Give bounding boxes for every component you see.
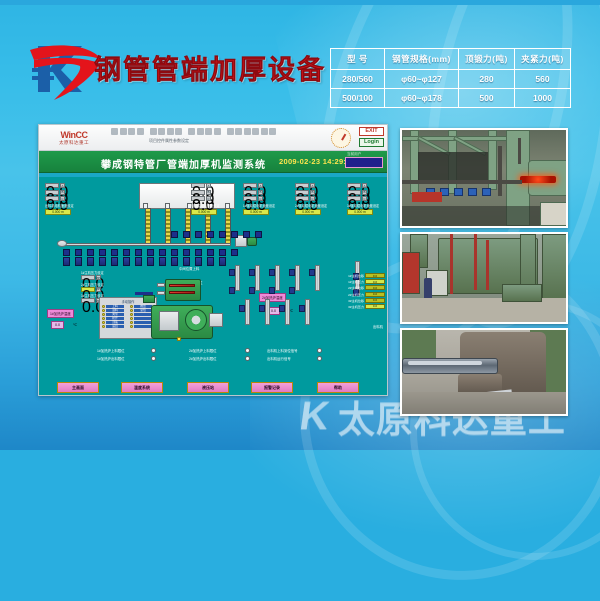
toolbar-icon-undo[interactable] — [175, 128, 182, 135]
login-button[interactable]: Login — [359, 138, 384, 147]
photo1-hydraulic-line — [498, 146, 502, 196]
conveyor-roller — [219, 249, 226, 256]
status-lamp-icon — [245, 356, 250, 361]
control-label — [134, 325, 152, 328]
photo3-floor — [402, 392, 568, 416]
value-tag: C — [60, 196, 65, 201]
col-header-clamp-force: 夹紧力(吨) — [515, 49, 571, 70]
lift-cylinder — [315, 265, 320, 291]
status-led-icon — [130, 317, 133, 320]
value-tag: B — [206, 190, 211, 195]
spec-table: 型 号 钢管规格(mm) 顶锻力(吨) 夹紧力(吨) 280/560 φ60~φ… — [330, 48, 571, 108]
cell-clamp-force: 560 — [515, 70, 571, 89]
toolbar-icon-new[interactable] — [111, 128, 118, 135]
wincc-logo: WinCC 太原科达重工 — [43, 127, 105, 149]
photo1-roller — [454, 188, 463, 196]
right-value-row: 3#主机压力 0.0 — [348, 304, 385, 309]
value-tag: C — [258, 196, 263, 201]
page-title: 钢管管端加厚设备 — [94, 48, 326, 87]
roller-stand — [171, 257, 178, 266]
toolbar-icon-print[interactable] — [137, 128, 144, 135]
conveyor-roller — [87, 249, 94, 256]
value-row: 0.0 C — [243, 196, 277, 201]
lift-cylinder — [305, 299, 310, 325]
value-box[interactable]: 0.0 — [45, 190, 59, 195]
value-box[interactable]: 0.0 — [347, 190, 361, 195]
toolbar-icon-zoom[interactable] — [188, 128, 195, 135]
value-tag: A — [258, 183, 263, 188]
value-row: 0.0 B — [347, 190, 381, 195]
lift-cylinder — [265, 299, 270, 325]
value-tag: A — [206, 183, 211, 188]
toolbar-icon-open[interactable] — [120, 128, 127, 135]
hmi-toolbar-caption: 项目控件属性参数设定 — [149, 138, 189, 144]
value-row: 0.0 A — [191, 183, 225, 188]
photo2-worker — [424, 278, 432, 298]
cell-model: 500/100 — [331, 89, 385, 108]
furnace-temp-label: 1#加热炉温度 — [47, 309, 74, 318]
lamp-label-mid-1: 2#加热炉上料限位 — [189, 349, 217, 353]
right-value-label: 2#主机压力 — [348, 292, 364, 297]
toolbar-separator — [222, 128, 225, 135]
hmi-screenshot: WinCC 太原科达重工 项目控件属性参数设定 — [38, 124, 388, 396]
photo2-red-pipe — [486, 240, 489, 290]
right-value-row: 2#主机位移 0.0 — [348, 285, 385, 290]
status-led-icon — [102, 305, 105, 308]
value-tag: A — [60, 183, 65, 188]
valve-symbol — [289, 269, 295, 276]
status-led-icon — [130, 313, 133, 316]
value-tag: C — [362, 196, 367, 201]
roller-stand — [183, 257, 190, 266]
toolbar-icon-save[interactable] — [128, 128, 135, 135]
value-box[interactable]: 0.0 — [243, 190, 257, 195]
col-header-upset-force: 顶锻力(吨) — [459, 49, 515, 70]
roller-stand — [111, 257, 118, 266]
upper-roller — [207, 231, 214, 238]
right-value-row: 2#主机压力 0.0 — [348, 292, 385, 297]
control-label — [134, 321, 152, 324]
status-led-icon — [102, 309, 105, 312]
right-value-label: 3#主机压力 — [348, 304, 364, 309]
col-header-model: 型 号 — [331, 49, 385, 70]
value-group-drive-motor: 0.0 A 0.0 B 0.0 C 驱动辊电机速度设定 0.000 m — [191, 183, 225, 215]
value-tag: B — [310, 190, 315, 195]
status-lamp-icon — [317, 356, 322, 361]
photo2-canvas — [402, 234, 566, 322]
toolbar-icon-cut[interactable] — [150, 128, 157, 135]
pressure-row: 0.0 MPa — [81, 275, 104, 280]
page-header: 钢管管端加厚设备 — [16, 34, 336, 106]
valve-symbol — [249, 269, 255, 276]
value-box[interactable]: 0.0 — [45, 183, 59, 188]
value-group-caption: 1#驱动辊电机速度设定 — [243, 203, 277, 208]
value-group-drive-motor-2: 0.0 A 0.0 B 0.0 C 2#驱动辊电机速度设定 0.000 m — [295, 183, 329, 215]
toolbar-icon-paste[interactable] — [167, 128, 174, 135]
roller-stand — [87, 257, 94, 266]
value-row: 0.0 C — [347, 196, 381, 201]
control-row[interactable]: 返回 — [102, 325, 126, 328]
furnace-column — [145, 208, 151, 244]
upper-roller — [183, 231, 190, 238]
valve-symbol — [269, 287, 275, 294]
status-lamp-icon — [245, 348, 250, 353]
photo2-red-unit — [402, 252, 420, 294]
photo1-hydraulic-line — [518, 138, 521, 164]
value-box[interactable]: 0.0 — [295, 196, 309, 201]
wincc-wordmark: WinCC — [61, 131, 88, 140]
status-lamp-icon — [317, 348, 322, 353]
value-tag: C — [310, 196, 315, 201]
furnace-temp-unit: ℃ — [73, 323, 77, 327]
col-header-pipe-size: 钢管规格(mm) — [385, 49, 459, 70]
control-label — [134, 313, 152, 316]
cell-clamp-force: 1000 — [515, 89, 571, 108]
press-head-assembly — [165, 279, 201, 301]
clock-icon — [331, 128, 351, 148]
toolbar-icon-layer[interactable] — [244, 128, 251, 135]
button-temperature-system[interactable]: 温度系统 — [121, 382, 163, 393]
status-lamp-icon — [151, 356, 156, 361]
toolbar-icon-script[interactable] — [261, 128, 268, 135]
photo1-shadow — [418, 152, 488, 180]
toolbar-icon-settings[interactable] — [227, 128, 234, 135]
furnace-clamp — [225, 203, 230, 209]
hmi-toolbar-bar: WinCC 太原科达重工 项目控件属性参数设定 — [39, 125, 387, 151]
feed-unit — [143, 295, 155, 303]
value-row: 0.0 C — [45, 196, 79, 201]
roller-stand — [147, 257, 154, 266]
right-value-row: 3#主机位移 0.0 — [348, 298, 385, 303]
right-value-label: 1#主机压力 — [348, 279, 364, 284]
lift-cylinder — [235, 265, 240, 291]
photo1-white-box — [540, 202, 568, 226]
right-value-column: 1#主机位移 0.0 1#主机压力 0.0 2#主机位移 0.0 2#主机压力 … — [348, 273, 385, 310]
value-tag: A — [310, 183, 315, 188]
valve-symbol — [229, 287, 235, 294]
lift-cylinder — [255, 265, 260, 291]
value-box[interactable]: 0.0 — [243, 183, 257, 188]
conveyor-roller — [75, 249, 82, 256]
status-led-icon — [102, 325, 105, 328]
value-group-caption: 驱动辊电机速度设定 — [191, 203, 225, 208]
furnace-column — [225, 208, 231, 244]
cell-model: 280/560 — [331, 70, 385, 89]
photo-workshop-machine — [400, 232, 568, 324]
conveyor-roller — [231, 249, 238, 256]
status-led-icon — [130, 321, 133, 324]
cell-pipe-size: φ60~φ127 — [385, 70, 459, 89]
hmi-mimic-diagram: 0.0 A 0.0 B 0.0 C 出料机电机速度设定 0.000 m 0.0 … — [39, 177, 387, 396]
value-row: 0.0 A — [295, 183, 329, 188]
right-value-label: 3#主机位移 — [348, 298, 364, 303]
pressure-value[interactable]: 0.0 — [81, 287, 95, 292]
upper-roller — [219, 231, 226, 238]
photo-upsetting-line — [400, 128, 568, 228]
press-end-block — [209, 313, 223, 327]
toolbar-icon-help[interactable] — [235, 128, 242, 135]
toolbar-separator — [184, 128, 187, 135]
value-row: 0.0 A — [45, 183, 79, 188]
conveyor-roller — [183, 249, 190, 256]
furnace-temp2-label: 2#加热炉温度 — [259, 293, 286, 302]
furnace-clamp — [143, 203, 148, 209]
pressure-unit: MPa — [96, 287, 101, 292]
value-tag: C — [206, 196, 211, 201]
wincc-sub-text: 太原科达重工 — [59, 140, 89, 146]
roller-stand — [123, 257, 130, 266]
value-tag: B — [258, 190, 263, 195]
lamp-label-mid-2: 2#加热炉出料限位 — [189, 357, 217, 361]
roller-stand — [75, 257, 82, 266]
upper-roller — [171, 231, 178, 238]
hydraulic-cylinder-red — [169, 291, 195, 294]
status-lamp-icon — [151, 348, 156, 353]
feed-pipe — [135, 292, 153, 295]
toolbar-icon-align[interactable] — [205, 128, 212, 135]
lift-cylinder — [245, 299, 250, 325]
valve-symbol — [279, 305, 285, 312]
value-box[interactable]: 0.0 — [295, 183, 309, 188]
photo2-red-pipe — [450, 234, 453, 294]
roller-stand — [99, 257, 106, 266]
value-row: 0.0 B — [295, 190, 329, 195]
upper-roller — [195, 231, 202, 238]
right-value: 0.0 — [365, 298, 385, 303]
value-tag: B — [60, 190, 65, 195]
photo1-pipe — [402, 180, 522, 184]
lamp-label-right-2: 出料机运行信号 — [267, 357, 291, 361]
control-label: 返回 — [106, 325, 124, 328]
status-led-icon — [130, 309, 133, 312]
manual-control-panel[interactable]: 手动操作 上料 退料 夹紧 — [99, 297, 157, 339]
photo2-floor — [402, 298, 568, 324]
right-value-row: 1#主机压力 0.0 — [348, 279, 385, 284]
value-tag: B — [362, 190, 367, 195]
value-group-caption: 3#驱动辊电机速度设定 — [347, 203, 381, 208]
conveyor-roller — [159, 249, 166, 256]
conveyor-roller — [207, 249, 214, 256]
valve-symbol — [289, 287, 295, 294]
value-row: 0.0 B — [45, 190, 79, 195]
value-box[interactable]: 0.0 — [295, 190, 309, 195]
toolbar-icon-grid[interactable] — [197, 128, 204, 135]
value-box[interactable]: 0.0 — [45, 196, 59, 201]
photo1-hot-pipe-glow — [520, 176, 556, 183]
hmi-title-bar: 攀成钢特管厂管端加厚机监测系统 2009-02-23 14:29:24 当前用户 — [39, 151, 387, 173]
cell-upset-force: 280 — [459, 70, 515, 89]
conveyor-roller — [123, 249, 130, 256]
furnace-clamp — [165, 203, 170, 209]
status-led-icon — [102, 321, 105, 324]
right-value-row: 1#主机位移 0.0 — [348, 273, 385, 278]
lift-cylinder — [295, 265, 300, 291]
value-box[interactable]: 0.0 — [191, 196, 205, 201]
photo1-roller — [468, 188, 477, 196]
value-row: 0.0 C — [191, 196, 225, 201]
right-value: 0.0 — [365, 279, 385, 284]
clamp-jaw — [157, 283, 165, 287]
discharge-side-label: 出料机 — [373, 325, 383, 329]
photo1-red-equipment — [412, 192, 442, 202]
conveyor-roller — [111, 249, 118, 256]
status-led-icon — [130, 325, 133, 328]
furnace-column — [165, 208, 171, 244]
conveyor-roller — [147, 249, 154, 256]
status-led-icon — [130, 305, 133, 308]
mid-position-label: 中间位置上料 — [179, 267, 199, 271]
lift-cylinder — [285, 299, 290, 325]
conveyor-rail — [63, 243, 231, 246]
photo2-base — [502, 284, 542, 302]
hmi-datetime: 2009-02-23 14:29:24 — [279, 157, 355, 166]
right-value: 0.0 — [365, 304, 385, 309]
hydraulic-cylinder-red — [169, 284, 195, 287]
value-row: 0.0 B — [243, 190, 277, 195]
hmi-user-field[interactable] — [345, 157, 383, 168]
valve-symbol — [229, 269, 235, 276]
gear-wheel-icon — [185, 309, 207, 331]
roller-stand — [135, 257, 142, 266]
button-help[interactable]: 帮助 — [317, 382, 359, 393]
table-row: 500/100 φ60~φ178 500 1000 — [331, 89, 571, 108]
exit-button[interactable]: EXIT — [359, 127, 384, 136]
cell-pipe-size: φ60~φ178 — [385, 89, 459, 108]
conveyor-roller — [63, 249, 70, 256]
value-box[interactable]: 0.0 — [243, 196, 257, 201]
toolbar-icon-copy[interactable] — [158, 128, 165, 135]
toolbar-icon-tag[interactable] — [252, 128, 259, 135]
valve-symbol — [269, 269, 275, 276]
photo3-canvas — [402, 330, 566, 414]
upper-roller — [255, 231, 262, 238]
roller-motor — [57, 240, 67, 247]
value-box[interactable]: 0.0 — [191, 190, 205, 195]
roller-stand — [219, 257, 226, 266]
roller-stand — [159, 257, 166, 266]
toolbar-icon-run[interactable] — [214, 128, 221, 135]
top-strip — [0, 0, 600, 5]
value-tag: A — [362, 183, 367, 188]
toolbar-icon-alarm[interactable] — [269, 128, 276, 135]
value-box[interactable]: 0.0 — [347, 196, 361, 201]
button-alarm-log[interactable]: 报警记录 — [251, 382, 293, 393]
status-led-icon — [102, 313, 105, 316]
valve-symbol — [239, 305, 245, 312]
button-hydraulic-station[interactable]: 液压站 — [187, 382, 229, 393]
roller-stand — [207, 257, 214, 266]
photo-pipe-closeup — [400, 328, 568, 416]
valve-symbol — [259, 305, 265, 312]
upper-roller — [231, 231, 238, 238]
valve-symbol — [249, 287, 255, 294]
conveyor-roller — [135, 249, 142, 256]
lift-cylinder — [275, 265, 280, 291]
conveyor-roller — [99, 249, 106, 256]
value-row: 0.0 A — [347, 183, 381, 188]
right-value: 0.0 — [365, 273, 385, 278]
status-led-icon — [102, 317, 105, 320]
photo2-frame — [542, 234, 568, 300]
roller-stand — [63, 257, 70, 266]
button-main-screen[interactable]: 主画面 — [57, 382, 99, 393]
furnace-temp-value: 0.0 — [51, 321, 64, 329]
pressure-value[interactable]: 0.0 — [81, 275, 95, 280]
cell-upset-force: 500 — [459, 89, 515, 108]
lamp-label-left-2: 1#加热炉出料限位 — [97, 357, 125, 361]
value-group-caption: 2#驱动辊电机速度设定 — [295, 203, 329, 208]
value-box[interactable]: 0.0 — [191, 183, 205, 188]
lamp-label-right-1: 出料机上料到位信号 — [267, 349, 298, 353]
value-group-drive-motor-1: 0.0 A 0.0 B 0.0 C 1#驱动辊电机速度设定 0.000 m — [243, 183, 277, 215]
right-value-label: 1#主机位移 — [348, 273, 364, 278]
table-row: 280/560 φ60~φ127 280 560 — [331, 70, 571, 89]
toolbar-separator — [145, 128, 148, 135]
conveyor-roller — [195, 249, 202, 256]
kd-logo-icon — [28, 38, 104, 100]
roller-stand — [195, 257, 202, 266]
clamp-jaw — [157, 291, 165, 295]
hmi-system-title: 攀成钢特管厂管端加厚机监测系统 — [101, 156, 266, 171]
value-group-caption: 出料机电机速度设定 — [45, 203, 79, 208]
pressure-row: 0.0 MPa — [81, 287, 104, 292]
photo1-roller — [482, 188, 491, 196]
right-value: 0.0 — [365, 285, 385, 290]
photo3-pipe-highlight — [408, 361, 482, 365]
upper-roller — [243, 231, 250, 238]
value-group-discharge-motor: 0.0 A 0.0 B 0.0 C 出料机电机速度设定 0.000 m — [45, 183, 79, 215]
valve-symbol — [309, 269, 315, 276]
value-row: 0.0 B — [191, 190, 225, 195]
value-row: 0.0 C — [295, 196, 329, 201]
right-value: 0.0 — [365, 292, 385, 297]
control-label: 复位 — [134, 309, 152, 312]
photo2-red-pipe — [474, 234, 477, 290]
valve-symbol — [299, 305, 305, 312]
photo1-canvas — [402, 130, 566, 226]
hmi-toolbar-icons[interactable] — [111, 128, 309, 148]
drive-motor — [247, 237, 257, 246]
press-block — [159, 311, 179, 331]
value-box[interactable]: 0.0 — [347, 183, 361, 188]
value-row: 0.0 A — [243, 183, 277, 188]
conveyor-roller — [171, 249, 178, 256]
value-group-drive-motor-3: 0.0 A 0.0 B 0.0 C 3#驱动辊电机速度设定 0.000 m — [347, 183, 381, 215]
pressure-unit: MPa — [96, 275, 101, 280]
watermark-logo-icon: K — [297, 394, 333, 439]
table-header-row: 型 号 钢管规格(mm) 顶锻力(吨) 夹紧力(吨) — [331, 49, 571, 70]
pressure-value[interactable]: 0.0 — [81, 298, 95, 303]
lamp-label-left-1: 1#加热炉上料限位 — [97, 349, 125, 353]
indicator-yellow — [177, 337, 181, 341]
control-label — [134, 317, 152, 320]
right-value-label: 2#主机位移 — [348, 285, 364, 290]
